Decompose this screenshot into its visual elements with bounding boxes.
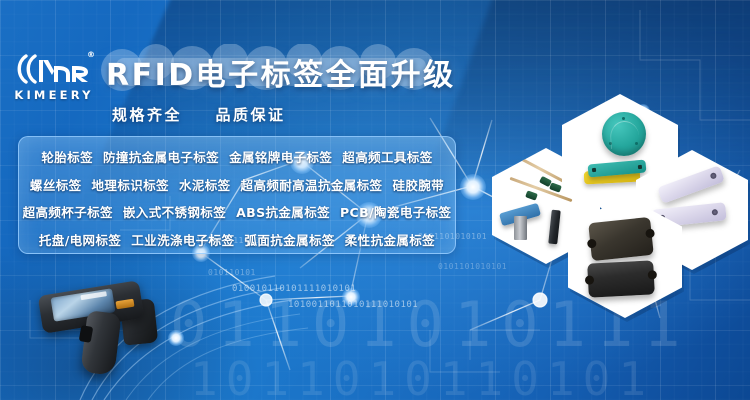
subheadline: 规格齐全 品质保证 — [112, 104, 286, 125]
stick-tag — [548, 210, 561, 245]
rfid-product-banner: 01101010111 1011010110101 — [0, 0, 750, 400]
tag-item[interactable]: 嵌入式不锈钢标签 — [123, 202, 226, 221]
brand-wordmark: KIMEERY — [14, 88, 94, 102]
tag-item[interactable]: 地理标识标签 — [92, 175, 169, 194]
tag-item[interactable]: ABS抗金属标签 — [236, 202, 330, 221]
lavender-tag-upper — [657, 165, 725, 204]
binary-text-1: 010010110101111010101 — [232, 284, 356, 294]
brand-logo[interactable]: ® KIMEERY — [14, 52, 94, 108]
tag-row: 螺丝标签 地理标识标签 水泥标签 超高频耐高温抗金属标签 硅胶腕带 — [19, 172, 455, 197]
tag-item[interactable]: 硅胶腕带 — [392, 175, 444, 194]
tag-item[interactable]: 水泥标签 — [179, 175, 231, 194]
tag-item[interactable]: 金属铭牌电子标签 — [229, 147, 332, 166]
tag-row: 超高频杯子标签 嵌入式不锈钢标签 ABS抗金属标签 PCB/陶瓷电子标签 — [19, 199, 455, 224]
tag-item[interactable]: 螺丝标签 — [30, 175, 82, 194]
tag-item[interactable]: 弧面抗金属标签 — [244, 230, 334, 249]
tag-row: 托盘/电网标签 工业洗涤电子标签 弧面抗金属标签 柔性抗金属标签 — [19, 227, 455, 252]
abs-tag-upper — [588, 217, 654, 261]
tag-item[interactable]: 超高频耐高温抗金属标签 — [241, 175, 383, 194]
disc-tag — [602, 112, 646, 156]
binary-text-2: 1010011011010111010101 — [288, 300, 418, 310]
tag-item[interactable]: 超高频杯子标签 — [23, 202, 113, 221]
binary-backdrop-large-2: 1011010110101 — [190, 352, 654, 400]
logo-mark: ® — [14, 52, 94, 86]
binary-text-5: 010110101 — [208, 268, 256, 277]
kmr-logo-icon — [14, 52, 94, 86]
screw-tag-body — [514, 216, 527, 240]
handheld-rfid-reader[interactable] — [34, 274, 162, 386]
registered-symbol: ® — [87, 50, 95, 59]
tag-item[interactable]: 防撞抗金属电子标签 — [103, 147, 219, 166]
tag-item[interactable]: 托盘/电网标签 — [39, 230, 121, 249]
product-tag-panel: 轮胎标签 防撞抗金属电子标签 金属铭牌电子标签 超高频工具标签 螺丝标签 地理标… — [18, 136, 456, 254]
reader-grip — [80, 310, 121, 376]
subheadline-part2: 品质保证 — [215, 106, 285, 124]
rod-tag-chip — [525, 190, 538, 200]
headline-text: RFID电子标签全面升级 — [106, 50, 456, 94]
tag-item[interactable]: 工业洗涤电子标签 — [131, 230, 234, 249]
binary-text-6: 0101101010101 — [438, 262, 507, 271]
tag-item[interactable]: 轮胎标签 — [41, 147, 93, 166]
tag-item[interactable]: PCB/陶瓷电子标签 — [340, 202, 451, 221]
tag-item[interactable]: 柔性抗金属标签 — [345, 230, 435, 249]
tag-item[interactable]: 超高频工具标签 — [342, 147, 432, 166]
subheadline-part1: 规格齐全 — [112, 106, 182, 124]
tag-row: 轮胎标签 防撞抗金属电子标签 金属铭牌电子标签 超高频工具标签 — [19, 144, 455, 169]
abs-tag-lower — [587, 260, 655, 297]
